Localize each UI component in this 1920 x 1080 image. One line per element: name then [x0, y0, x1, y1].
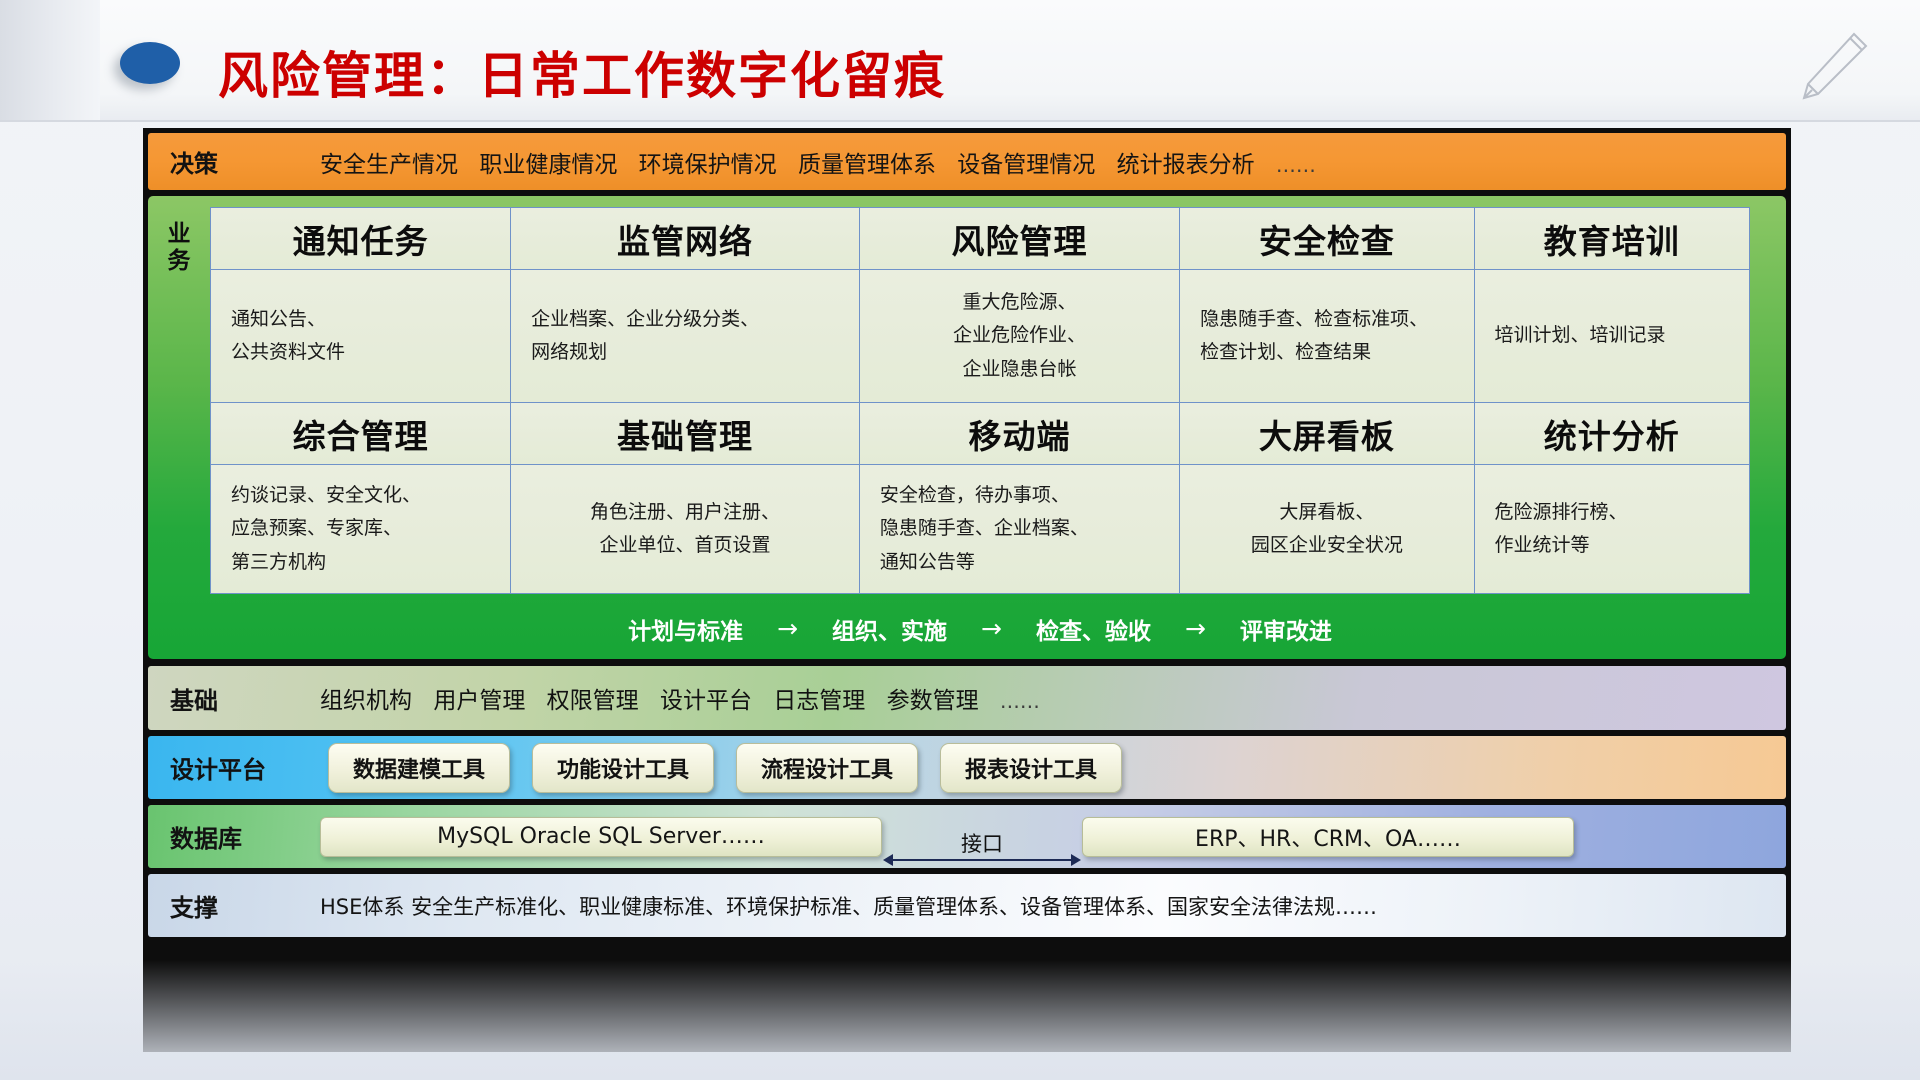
pdca-arrow-icon-2: → — [1185, 614, 1206, 643]
layer-database-label: 数据库 — [148, 819, 320, 854]
slide-header: 风险管理：日常工作数字化留痕 — [0, 0, 1920, 122]
module-title-notify[interactable]: 通知任务 — [211, 208, 511, 270]
module-title-large-screen-dashboard[interactable]: 大屏看板 — [1180, 403, 1474, 465]
module-detail-risk-management: 重大危险源、 企业危险作业、 企业隐患台帐 — [860, 270, 1180, 403]
layer-database: 数据库 MySQL Oracle SQL Server…… 接口 ERP、HR、… — [148, 805, 1786, 868]
layer-support-items: HSE体系 安全生产标准化、职业健康标准、环境保护标准、质量管理体系、设备管理体… — [320, 891, 1377, 921]
layer-decision-items: 安全生产情况 职业健康情况 环境保护情况 质量管理体系 设备管理情况 统计报表分… — [320, 145, 1316, 179]
decision-item-5: 统计报表分析 — [1117, 152, 1255, 178]
pdca-step-1: 组织、实施 — [832, 612, 947, 646]
module-title-basic-management[interactable]: 基础管理 — [511, 403, 860, 465]
foundation-item-4: 日志管理 — [773, 688, 865, 714]
decision-item-2: 环境保护情况 — [639, 152, 777, 178]
decision-item-1: 职业健康情况 — [479, 152, 617, 178]
module-title-comprehensive-management[interactable]: 综合管理 — [211, 403, 511, 465]
tool-button-report-design[interactable]: 报表设计工具 — [940, 743, 1122, 793]
module-detail-basic-management: 角色注册、用户注册、 企业单位、首页设置 — [511, 465, 860, 593]
layer-business: 业务 通知任务 监管网络 风险管理 安全检查 教育培训 通知公告、 公共资料文件… — [148, 196, 1786, 659]
layer-foundation[interactable]: 基础 组织机构 用户管理 权限管理 设计平台 日志管理 参数管理 …… — [148, 666, 1786, 730]
module-title-statistical-analysis[interactable]: 统计分析 — [1475, 403, 1749, 465]
module-detail-large-screen-dashboard: 大屏看板、 园区企业安全状况 — [1180, 465, 1474, 593]
layer-foundation-label: 基础 — [148, 681, 320, 716]
interface-label: 接口 — [961, 828, 1003, 858]
decision-trailing-dots: …… — [1276, 153, 1316, 177]
module-title-supervision-network[interactable]: 监管网络 — [511, 208, 860, 270]
layer-design-platform-label: 设计平台 — [148, 750, 320, 785]
header-left-gradient — [0, 0, 100, 120]
foundation-item-0: 组织机构 — [320, 688, 412, 714]
layer-business-label: 业务 — [148, 196, 210, 659]
module-detail-supervision-network: 企业档案、企业分级分类、 网络规划 — [511, 270, 860, 403]
foundation-item-3: 设计平台 — [660, 688, 752, 714]
architecture-diagram: 决策 安全生产情况 职业健康情况 环境保护情况 质量管理体系 设备管理情况 统计… — [143, 128, 1791, 1052]
decision-item-0: 安全生产情况 — [320, 152, 458, 178]
external-systems-pill[interactable]: ERP、HR、CRM、OA…… — [1082, 817, 1574, 857]
module-title-safety-inspection[interactable]: 安全检查 — [1180, 208, 1474, 270]
double-arrow-icon — [892, 859, 1072, 861]
tool-button-data-modeling[interactable]: 数据建模工具 — [328, 743, 510, 793]
title-bullet-icon — [120, 42, 180, 84]
database-engines-pill[interactable]: MySQL Oracle SQL Server…… — [320, 817, 882, 857]
module-detail-mobile: 安全检查，待办事项、 隐患随手查、企业档案、 通知公告等 — [860, 465, 1180, 593]
layer-decision[interactable]: 决策 安全生产情况 职业健康情况 环境保护情况 质量管理体系 设备管理情况 统计… — [148, 133, 1786, 190]
pdca-flow: 计划与标准 → 组织、实施 → 检查、验收 → 评审改进 — [210, 594, 1750, 659]
pen-icon — [1792, 30, 1872, 102]
slide-background: 风险管理：日常工作数字化留痕 决策 安全生产情况 职业健康情况 环境保护情况 质… — [0, 0, 1920, 1080]
module-title-risk-management[interactable]: 风险管理 — [860, 208, 1180, 270]
layer-decision-label: 决策 — [148, 144, 320, 179]
tool-button-process-design[interactable]: 流程设计工具 — [736, 743, 918, 793]
page-title: 风险管理：日常工作数字化留痕 — [218, 36, 946, 108]
biz-label-char-1: 业 — [168, 221, 191, 247]
decision-item-3: 质量管理体系 — [798, 152, 936, 178]
module-detail-comprehensive-management: 约谈记录、安全文化、 应急预案、专家库、 第三方机构 — [211, 465, 511, 593]
module-detail-safety-inspection: 隐患随手查、检查标准项、 检查计划、检查结果 — [1180, 270, 1474, 403]
pdca-arrow-icon-0: → — [777, 614, 798, 643]
layer-support[interactable]: 支撑 HSE体系 安全生产标准化、职业健康标准、环境保护标准、质量管理体系、设备… — [148, 874, 1786, 937]
business-module-grid: 通知任务 监管网络 风险管理 安全检查 教育培训 通知公告、 公共资料文件 企业… — [210, 207, 1750, 594]
foundation-item-2: 权限管理 — [547, 688, 639, 714]
tool-button-function-design[interactable]: 功能设计工具 — [532, 743, 714, 793]
foundation-item-1: 用户管理 — [433, 688, 525, 714]
foundation-item-5: 参数管理 — [887, 688, 979, 714]
interface-connector: 接口 — [882, 813, 1082, 861]
pdca-step-2: 检查、验收 — [1036, 612, 1151, 646]
module-title-education-training[interactable]: 教育培训 — [1475, 208, 1749, 270]
biz-label-char-2: 务 — [168, 248, 191, 274]
module-title-mobile[interactable]: 移动端 — [860, 403, 1180, 465]
business-body: 通知任务 监管网络 风险管理 安全检查 教育培训 通知公告、 公共资料文件 企业… — [210, 196, 1786, 659]
layer-support-label: 支撑 — [148, 888, 320, 923]
module-detail-education-training: 培训计划、培训记录 — [1475, 270, 1749, 403]
pdca-step-3: 评审改进 — [1240, 612, 1332, 646]
layer-design-platform: 设计平台 数据建模工具 功能设计工具 流程设计工具 报表设计工具 — [148, 736, 1786, 799]
layer-foundation-items: 组织机构 用户管理 权限管理 设计平台 日志管理 参数管理 …… — [320, 681, 1040, 715]
foundation-trailing-dots: …… — [1000, 689, 1040, 713]
module-detail-statistical-analysis: 危险源排行榜、 作业统计等 — [1475, 465, 1749, 593]
decision-item-4: 设备管理情况 — [957, 152, 1095, 178]
layer-business-label-text: 业务 — [165, 221, 193, 275]
pdca-arrow-icon-1: → — [981, 614, 1002, 643]
module-detail-notify: 通知公告、 公共资料文件 — [211, 270, 511, 403]
design-tool-list: 数据建模工具 功能设计工具 流程设计工具 报表设计工具 — [320, 743, 1122, 793]
pdca-step-0: 计划与标准 — [628, 612, 743, 646]
